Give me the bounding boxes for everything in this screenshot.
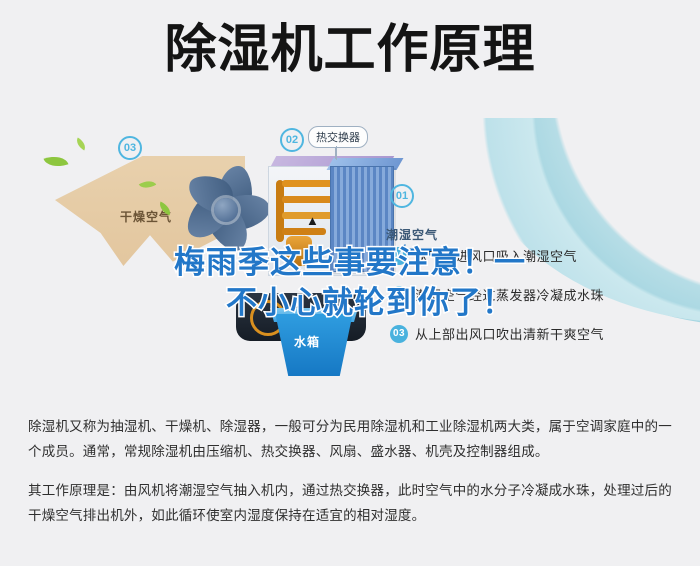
step-badge-01: 01 — [390, 247, 408, 265]
compressor — [286, 236, 312, 266]
evaporator-fins — [330, 166, 394, 272]
step-badge-03: 03 — [390, 325, 408, 343]
callout-badge-03: 03 — [118, 136, 142, 160]
paragraph-2: 其工作原理是：由风机将潮湿空气抽入机内，通过热交换器，此时空气中的水分子冷凝成水… — [28, 478, 678, 528]
fan-illustration — [178, 160, 274, 256]
step-item: 01 从下部进风口吸入潮湿空气 — [390, 246, 604, 265]
leaf-icon — [44, 152, 69, 171]
callout-badge-01: 01 — [390, 184, 414, 208]
dehumidifier-diagram: 干燥空气 ▶ ▲ ▼ 水箱 — [0, 118, 700, 403]
leaf-icon — [74, 138, 88, 151]
body-copy: 除湿机又称为抽湿机、干燥机、除湿器，一般可分为民用除湿机和工业除湿机两大类，属于… — [28, 414, 678, 542]
title-bar: 除湿机工作原理 — [0, 22, 700, 79]
step-badge-02: 02 — [390, 286, 408, 304]
humid-air-label: 潮湿空气 — [386, 226, 438, 243]
water-tank-label: 水箱 — [294, 333, 320, 350]
step-item: 03 从上部出风口吹出清新干爽空气 — [390, 324, 604, 343]
page-title: 除湿机工作原理 — [164, 22, 535, 79]
callout-badge-02: 02 — [280, 128, 304, 152]
flow-arrow-up-icon: ▲ — [306, 214, 319, 227]
step-text-01: 从下部进风口吸入潮湿空气 — [415, 246, 577, 265]
condenser-coil — [282, 228, 326, 235]
step-list: 01 从下部进风口吸入潮湿空气 02 潮湿空气经过蒸发器冷凝成水珠 03 从上部… — [390, 246, 604, 363]
step-item: 02 潮湿空气经过蒸发器冷凝成水珠 — [390, 285, 604, 304]
infographic-page: 除湿机工作原理 干燥空气 ▶ ▲ ▼ — [0, 0, 700, 566]
heat-exchanger-tag-stem — [336, 146, 337, 160]
heat-exchanger-tag: 热交换器 — [308, 126, 368, 148]
paragraph-1: 除湿机又称为抽湿机、干燥机、除湿器，一般可分为民用除湿机和工业除湿机两大类，属于… — [28, 414, 678, 464]
step-text-02: 潮湿空气经过蒸发器冷凝成水珠 — [415, 285, 604, 304]
step-text-03: 从上部出风口吹出清新干爽空气 — [415, 324, 604, 343]
fan-hub — [214, 198, 238, 222]
